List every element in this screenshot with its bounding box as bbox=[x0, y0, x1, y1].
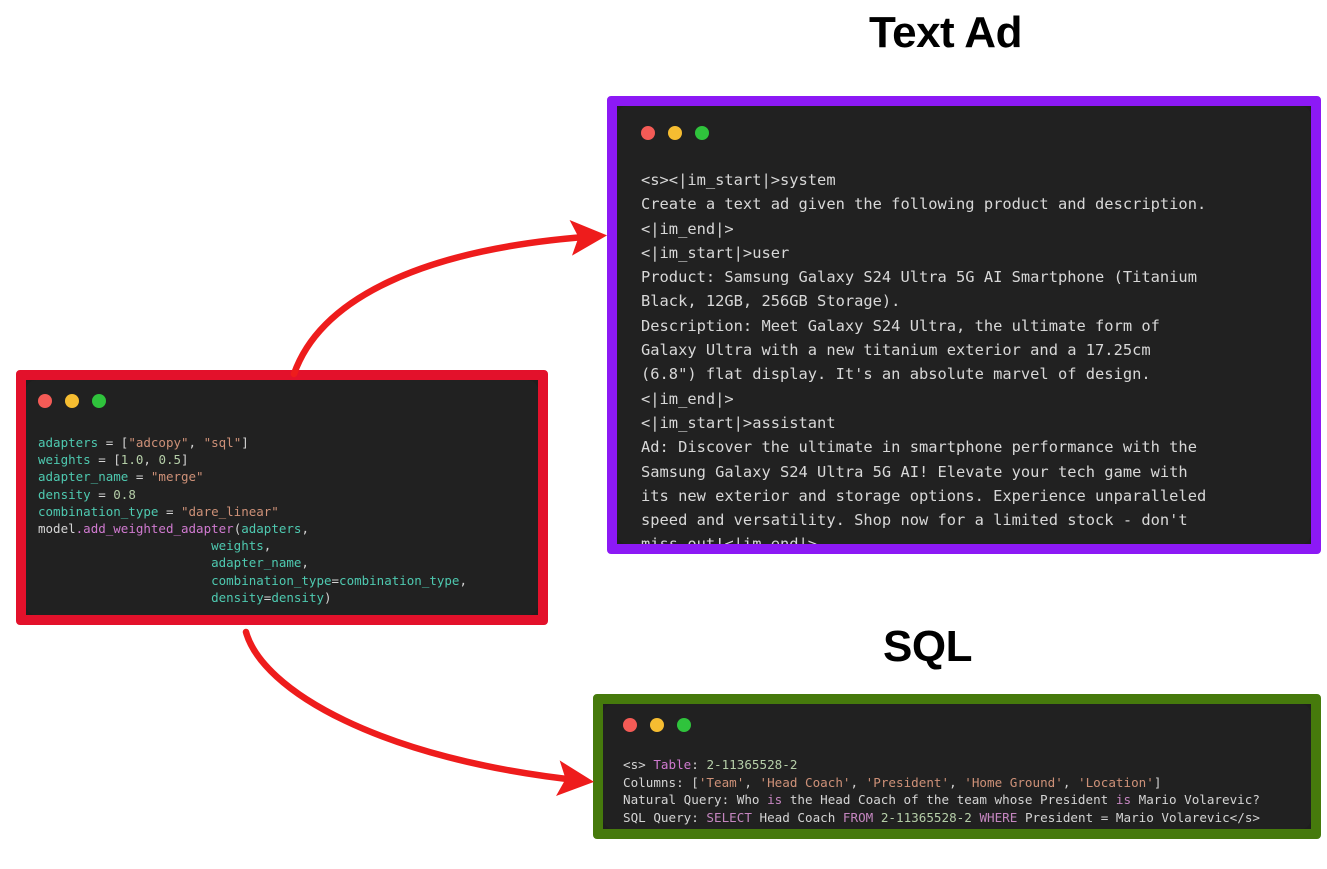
code-line: density=density) bbox=[38, 589, 467, 606]
code-token: FROM bbox=[843, 810, 873, 825]
code-token: Columns: [ bbox=[623, 775, 699, 790]
code-token: , bbox=[459, 573, 467, 588]
code-token: , bbox=[264, 538, 272, 553]
code-token: adapter_name bbox=[211, 555, 301, 570]
code-token: adapters bbox=[38, 435, 98, 450]
code-line: <|im_start|>assistant bbox=[641, 411, 1206, 435]
code-token: is bbox=[1116, 792, 1131, 807]
code-token: density bbox=[211, 590, 264, 605]
window-controls bbox=[38, 394, 106, 408]
code-line: Natural Query: Who is the Head Coach of … bbox=[623, 791, 1260, 809]
code-line: weights = [1.0, 0.5] bbox=[38, 451, 467, 468]
sql-title: SQL bbox=[883, 622, 972, 672]
code-token bbox=[38, 538, 211, 553]
code-token bbox=[38, 573, 211, 588]
code-token: model bbox=[38, 521, 76, 536]
code-line: Galaxy Ultra with a new titanium exterio… bbox=[641, 338, 1206, 362]
code-token: adapter_name bbox=[38, 469, 128, 484]
sql-code-block: <s> Table: 2-11365528-2Columns: ['Team',… bbox=[623, 756, 1260, 826]
code-token: = bbox=[91, 487, 114, 502]
close-dot[interactable] bbox=[38, 394, 52, 408]
code-line: Description: Meet Galaxy S24 Ultra, the … bbox=[641, 314, 1206, 338]
code-token: ] bbox=[181, 452, 189, 467]
code-token: weights bbox=[38, 452, 91, 467]
code-token: , bbox=[143, 452, 158, 467]
minimize-dot[interactable] bbox=[65, 394, 79, 408]
code-token: Table bbox=[653, 757, 691, 772]
code-line: model.add_weighted_adapter(adapters, bbox=[38, 520, 467, 537]
window-controls bbox=[623, 718, 691, 732]
code-token: ) bbox=[324, 590, 332, 605]
code-token: combination_type bbox=[211, 573, 331, 588]
code-token: 2-11365528-2 bbox=[881, 810, 972, 825]
code-token: , bbox=[851, 775, 866, 790]
code-token: "adcopy" bbox=[128, 435, 188, 450]
code-token: 1.0 bbox=[121, 452, 144, 467]
code-token: "sql" bbox=[204, 435, 242, 450]
code-token: , bbox=[301, 521, 309, 536]
code-line: <|im_end|> bbox=[641, 387, 1206, 411]
code-line: Product: Samsung Galaxy S24 Ultra 5G AI … bbox=[641, 265, 1206, 289]
code-token: <s> bbox=[623, 757, 653, 772]
code-token: 'Team' bbox=[699, 775, 745, 790]
code-token: adapters bbox=[241, 521, 301, 536]
code-token: , bbox=[1063, 775, 1078, 790]
code-token: : bbox=[691, 757, 706, 772]
merge-terminal-body: adapters = ["adcopy", "sql"]weights = [1… bbox=[26, 380, 538, 615]
code-line: <s> Table: 2-11365528-2 bbox=[623, 756, 1260, 774]
code-line: weights, bbox=[38, 537, 467, 554]
code-token: "merge" bbox=[151, 469, 204, 484]
close-dot[interactable] bbox=[641, 126, 655, 140]
code-token: 'Head Coach' bbox=[760, 775, 851, 790]
code-line: SQL Query: SELECT Head Coach FROM 2-1136… bbox=[623, 809, 1260, 827]
code-line: Samsung Galaxy S24 Ultra 5G AI! Elevate … bbox=[641, 460, 1206, 484]
window-controls bbox=[641, 126, 709, 140]
code-line: Columns: ['Team', 'Head Coach', 'Preside… bbox=[623, 774, 1260, 792]
code-token: = bbox=[332, 573, 340, 588]
close-dot[interactable] bbox=[623, 718, 637, 732]
diagram-canvas: Text Ad SQL adapters = ["adcopy", "sql"]… bbox=[0, 0, 1327, 869]
minimize-dot[interactable] bbox=[650, 718, 664, 732]
sql-terminal: <s> Table: 2-11365528-2Columns: ['Team',… bbox=[593, 694, 1321, 839]
code-line: density = 0.8 bbox=[38, 486, 467, 503]
code-line: Ad: Discover the ultimate in smartphone … bbox=[641, 435, 1206, 459]
code-line: combination_type = "dare_linear" bbox=[38, 503, 467, 520]
sql-terminal-body: <s> Table: 2-11365528-2Columns: ['Team',… bbox=[603, 704, 1311, 829]
code-line: <|im_start|>user bbox=[641, 241, 1206, 265]
arrow-merge-to-sql bbox=[246, 632, 585, 781]
code-token: 'Home Ground' bbox=[964, 775, 1063, 790]
code-token: , bbox=[189, 435, 204, 450]
code-line: speed and versatility. Shop now for a li… bbox=[641, 508, 1206, 532]
code-token: , bbox=[949, 775, 964, 790]
code-line: (6.8") flat display. It's an absolute ma… bbox=[641, 362, 1206, 386]
code-token: 2-11365528-2 bbox=[706, 757, 797, 772]
code-token: weights bbox=[211, 538, 264, 553]
code-token: SQL Query: bbox=[623, 810, 706, 825]
text-ad-code-block: <s><|im_start|>systemCreate a text ad gi… bbox=[641, 168, 1206, 544]
code-token: ] bbox=[241, 435, 249, 450]
code-token: the Head Coach of the team whose Preside… bbox=[782, 792, 1116, 807]
code-token: 0.5 bbox=[158, 452, 181, 467]
merge-code-terminal: adapters = ["adcopy", "sql"]weights = [1… bbox=[16, 370, 548, 625]
code-line: <|im_end|> bbox=[641, 217, 1206, 241]
code-token: "dare_linear" bbox=[181, 504, 279, 519]
code-line: <s><|im_start|>system bbox=[641, 168, 1206, 192]
code-line: combination_type=combination_type, bbox=[38, 572, 467, 589]
code-line: Create a text ad given the following pro… bbox=[641, 192, 1206, 216]
code-token: = [ bbox=[98, 435, 128, 450]
code-token bbox=[38, 590, 211, 605]
code-token bbox=[873, 810, 881, 825]
code-line: Black, 12GB, 256GB Storage). bbox=[641, 289, 1206, 313]
maximize-dot[interactable] bbox=[695, 126, 709, 140]
code-token: 'President' bbox=[866, 775, 949, 790]
code-token bbox=[38, 555, 211, 570]
code-token: is bbox=[767, 792, 782, 807]
code-token: SELECT bbox=[706, 810, 752, 825]
code-token: Head Coach bbox=[752, 810, 843, 825]
maximize-dot[interactable] bbox=[92, 394, 106, 408]
code-token: , bbox=[744, 775, 759, 790]
arrow-merge-to-textad bbox=[294, 236, 598, 374]
code-token: = bbox=[158, 504, 181, 519]
code-token: density bbox=[271, 590, 324, 605]
code-token: = bbox=[128, 469, 151, 484]
code-token: 0.8 bbox=[113, 487, 136, 502]
code-token: , bbox=[301, 555, 309, 570]
code-line: adapters = ["adcopy", "sql"] bbox=[38, 434, 467, 451]
code-token: .add_weighted_adapter bbox=[76, 521, 234, 536]
code-token: combination_type bbox=[38, 504, 158, 519]
code-token: combination_type bbox=[339, 573, 459, 588]
code-token: density bbox=[38, 487, 91, 502]
code-token: ] bbox=[1154, 775, 1162, 790]
code-token: 'Location' bbox=[1078, 775, 1154, 790]
code-token: WHERE bbox=[979, 810, 1017, 825]
maximize-dot[interactable] bbox=[677, 718, 691, 732]
merge-code-block: adapters = ["adcopy", "sql"]weights = [1… bbox=[38, 434, 467, 606]
code-token: = [ bbox=[91, 452, 121, 467]
code-line: adapter_name = "merge" bbox=[38, 468, 467, 485]
code-line: miss out!<|im_end|> bbox=[641, 532, 1206, 544]
minimize-dot[interactable] bbox=[668, 126, 682, 140]
code-line: adapter_name, bbox=[38, 554, 467, 571]
text-ad-terminal-body: <s><|im_start|>systemCreate a text ad gi… bbox=[617, 106, 1311, 544]
text-ad-title: Text Ad bbox=[869, 8, 1022, 58]
code-token: Natural Query: Who bbox=[623, 792, 767, 807]
code-token: Mario Volarevic? bbox=[1131, 792, 1260, 807]
text-ad-terminal: <s><|im_start|>systemCreate a text ad gi… bbox=[607, 96, 1321, 554]
code-token: President = Mario Volarevic</s> bbox=[1017, 810, 1260, 825]
code-line: its new exterior and storage options. Ex… bbox=[641, 484, 1206, 508]
